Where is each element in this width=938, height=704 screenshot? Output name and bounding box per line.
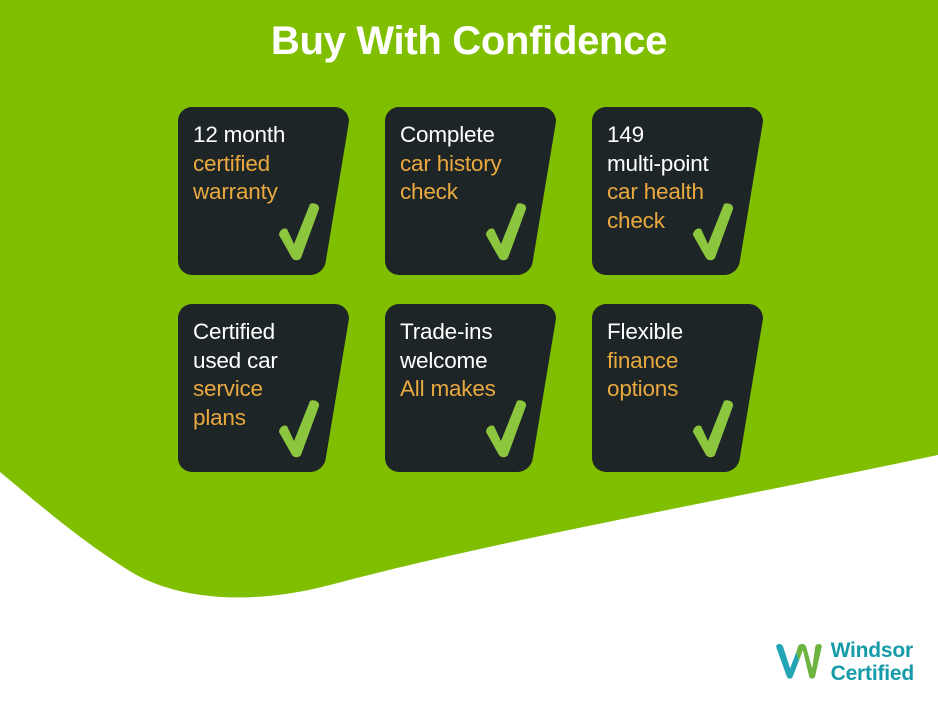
benefit-card-12-month-certified-warranty[interactable]: 12 month certified warranty — [178, 107, 349, 275]
check-mark-icon — [277, 203, 321, 261]
card-line-white: used car — [193, 347, 323, 376]
logo-line-2: Certified — [831, 662, 914, 686]
card-line-amber: certified — [193, 150, 323, 179]
card-text: Trade-ins welcome All makes — [400, 318, 530, 404]
check-mark-icon — [277, 400, 321, 458]
check-mark-icon — [484, 400, 528, 458]
benefit-card-grid: 12 month certified warranty Complete car… — [178, 107, 763, 501]
card-line-white: Trade-ins — [400, 318, 530, 347]
check-mark-icon — [691, 203, 735, 261]
benefit-card-149-multi-point-car-health-check[interactable]: 149 multi-point car health check — [592, 107, 763, 275]
benefit-card-row-1: 12 month certified warranty Complete car… — [178, 107, 763, 275]
benefit-card-complete-car-history-check[interactable]: Complete car history check — [385, 107, 556, 275]
card-line-white: 149 — [607, 121, 737, 150]
benefit-card-flexible-finance-options[interactable]: Flexible finance options — [592, 304, 763, 472]
card-line-amber: car history — [400, 150, 530, 179]
card-line-white: 12 month — [193, 121, 323, 150]
card-line-white: Complete — [400, 121, 530, 150]
card-line-white: Flexible — [607, 318, 737, 347]
card-line-amber: finance — [607, 347, 737, 376]
card-text: Complete car history check — [400, 121, 530, 207]
check-mark-icon — [691, 400, 735, 458]
card-line-white: welcome — [400, 347, 530, 376]
logo-line-1: Windsor — [831, 639, 914, 663]
logo-wordmark: Windsor Certified — [831, 639, 914, 686]
poster-canvas: Buy With Confidence 12 month certified w… — [0, 0, 938, 704]
card-text: 12 month certified warranty — [193, 121, 323, 207]
check-mark-icon — [484, 203, 528, 261]
benefit-card-certified-used-car-service-plans[interactable]: Certified used car service plans — [178, 304, 349, 472]
card-line-white: Certified — [193, 318, 323, 347]
card-line-white: multi-point — [607, 150, 737, 179]
page-title: Buy With Confidence — [0, 18, 938, 64]
card-text: Flexible finance options — [607, 318, 737, 404]
benefit-card-trade-ins-welcome-all-makes[interactable]: Trade-ins welcome All makes — [385, 304, 556, 472]
benefit-card-row-2: Certified used car service plans Trade-i… — [178, 304, 763, 472]
windsor-certified-logo[interactable]: Windsor Certified — [776, 639, 914, 686]
windsor-w-icon — [776, 642, 822, 682]
